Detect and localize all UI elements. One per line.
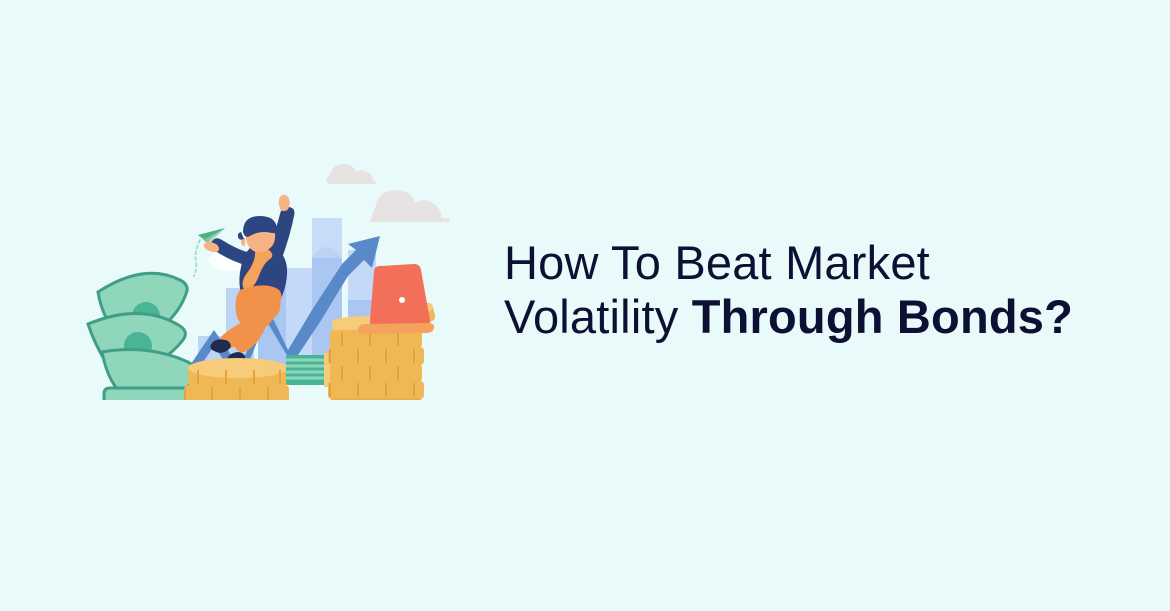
coin-row-1 xyxy=(188,358,288,386)
cloud-large-icon xyxy=(370,190,450,222)
page-title: How To Beat Market Volatility Through Bo… xyxy=(504,236,1124,344)
headline-line-two-bold: Through Bonds? xyxy=(692,290,1073,343)
investor-growth-illustration: Man jumping with joy in front of a risin… xyxy=(80,140,480,400)
coin-row-r6 xyxy=(330,398,422,400)
coin-row-r4 xyxy=(330,364,422,382)
laptop-screen xyxy=(370,264,430,327)
coin-row-2 xyxy=(185,385,289,400)
laptop-camera-dot xyxy=(399,297,405,303)
coin-row-r3 xyxy=(328,347,424,365)
hand-raised xyxy=(279,195,290,211)
headline-line-two-regular: Volatility xyxy=(504,290,692,343)
coin-stack-left xyxy=(185,358,289,400)
headline-line-one: How To Beat Market xyxy=(504,236,930,289)
illustration-svg: Man jumping with joy in front of a risin… xyxy=(80,140,480,400)
banknote-fan xyxy=(88,273,200,400)
coin-row-r5 xyxy=(328,381,424,399)
hero-banner: Man jumping with joy in front of a risin… xyxy=(0,0,1170,611)
laptop-base xyxy=(358,323,434,334)
cloud-small-icon xyxy=(326,164,376,184)
cap-brim xyxy=(238,232,244,240)
